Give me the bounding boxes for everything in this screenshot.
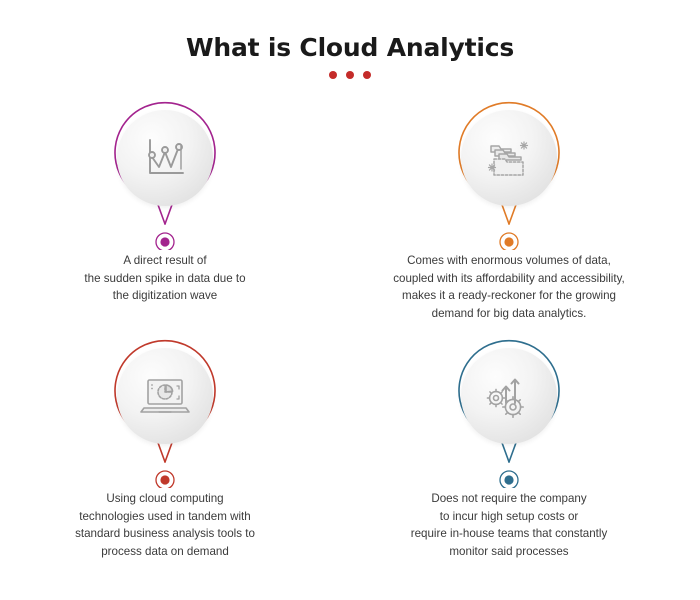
icon-circle xyxy=(117,348,213,444)
caption-line: process data on demand xyxy=(0,543,340,561)
caption-line: standard business analysis tools to xyxy=(0,525,340,543)
caption-line: demand for big data analytics. xyxy=(334,305,684,323)
icon-circle xyxy=(461,110,557,206)
laptop-pie-chart-icon xyxy=(138,372,192,420)
card-caption: A direct result of the sudden spike in d… xyxy=(0,252,340,305)
caption-line: technologies used in tandem with xyxy=(0,508,340,526)
infographic-canvas: What is Cloud Analytics xyxy=(0,0,700,600)
page-title: What is Cloud Analytics xyxy=(0,34,700,62)
title-dot xyxy=(346,71,354,79)
caption-line: require in-house teams that constantly xyxy=(334,525,684,543)
line-chart-icon xyxy=(140,133,190,183)
caption-line: coupled with its affordability and acces… xyxy=(334,270,684,288)
title-dot xyxy=(363,71,371,79)
cards-grid: A direct result of the sudden spike in d… xyxy=(0,100,700,600)
card-caption: Does not require the company to incur hi… xyxy=(334,490,684,560)
pin-marker[interactable] xyxy=(334,338,684,488)
caption-line: the sudden spike in data due to xyxy=(0,270,340,288)
card-caption: Comes with enormous volumes of data, cou… xyxy=(334,252,684,322)
card-enormous-volumes: Comes with enormous volumes of data, cou… xyxy=(334,100,684,250)
pin-marker[interactable] xyxy=(334,100,684,250)
icon-circle xyxy=(461,348,557,444)
pin-marker[interactable] xyxy=(0,100,340,250)
gears-growth-icon xyxy=(483,371,535,421)
caption-line: monitor said processes xyxy=(334,543,684,561)
title-dots-decoration xyxy=(0,71,700,79)
caption-line: A direct result of xyxy=(0,252,340,270)
folder-stack-icon xyxy=(483,133,535,183)
card-caption: Using cloud computing technologies used … xyxy=(0,490,340,560)
caption-line: Using cloud computing xyxy=(0,490,340,508)
caption-line: Does not require the company xyxy=(334,490,684,508)
caption-line: to incur high setup costs or xyxy=(334,508,684,526)
caption-line: the digitization wave xyxy=(0,287,340,305)
card-direct-result: A direct result of the sudden spike in d… xyxy=(0,100,340,250)
title-dot xyxy=(329,71,337,79)
card-no-setup-costs: Does not require the company to incur hi… xyxy=(334,338,684,488)
caption-line: Comes with enormous volumes of data, xyxy=(334,252,684,270)
pin-marker[interactable] xyxy=(0,338,340,488)
caption-line: makes it a ready-reckoner for the growin… xyxy=(334,287,684,305)
header: What is Cloud Analytics xyxy=(0,34,700,79)
icon-circle xyxy=(117,110,213,206)
card-cloud-computing-technologies: Using cloud computing technologies used … xyxy=(0,338,340,488)
